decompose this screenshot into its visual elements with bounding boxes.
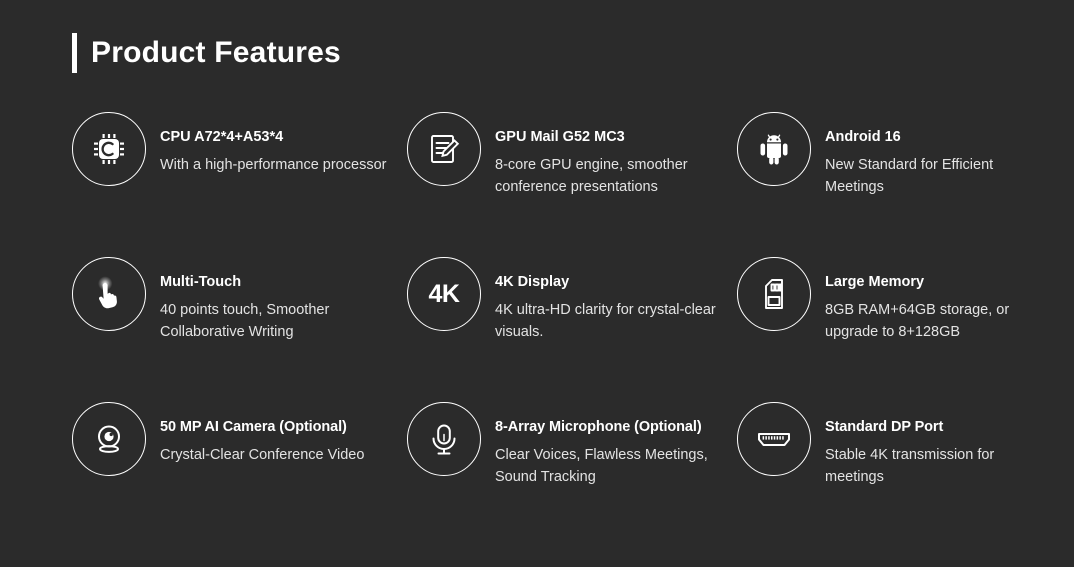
feature-description: 8-core GPU engine, smoother conference p… bbox=[495, 154, 737, 198]
feature-text: Large Memory 8GB RAM+64GB storage, or up… bbox=[825, 253, 1032, 343]
feature-description: New Standard for Efficient Meetings bbox=[825, 154, 1032, 198]
4k-text-icon: 4K bbox=[407, 257, 481, 331]
feature-item-multi-touch: Multi-Touch 40 points touch, Smoother Co… bbox=[72, 253, 407, 398]
feature-description: Crystal-Clear Conference Video bbox=[160, 444, 364, 466]
dp-port-icon bbox=[737, 402, 811, 476]
feature-title: Android 16 bbox=[825, 128, 1032, 146]
feature-description: Clear Voices, Flawless Meetings, Sound T… bbox=[495, 444, 737, 488]
feature-item-ai-camera: 50 MP AI Camera (Optional) Crystal-Clear… bbox=[72, 398, 407, 543]
feature-title: Standard DP Port bbox=[825, 418, 1032, 436]
feature-title: CPU A72*4+A53*4 bbox=[160, 128, 386, 146]
feature-description: Stable 4K transmission for meetings bbox=[825, 444, 1032, 488]
feature-item-dp-port: Standard DP Port Stable 4K transmission … bbox=[737, 398, 1032, 543]
feature-text: Android 16 New Standard for Efficient Me… bbox=[825, 108, 1032, 198]
feature-description: 40 points touch, Smoother Collaborative … bbox=[160, 299, 407, 343]
page-title-text: Product Features bbox=[91, 33, 341, 73]
feature-title: GPU Mail G52 MC3 bbox=[495, 128, 737, 146]
feature-text: Multi-Touch 40 points touch, Smoother Co… bbox=[160, 253, 407, 343]
touch-hand-icon bbox=[72, 257, 146, 331]
feature-item-android: Android 16 New Standard for Efficient Me… bbox=[737, 108, 1032, 253]
feature-item-cpu: CPU A72*4+A53*4 With a high-performance … bbox=[72, 108, 407, 253]
title-accent-bar bbox=[72, 33, 77, 73]
feature-text: 50 MP AI Camera (Optional) Crystal-Clear… bbox=[160, 398, 364, 466]
webcam-icon bbox=[72, 402, 146, 476]
feature-title: Large Memory bbox=[825, 273, 1032, 291]
feature-title: 4K Display bbox=[495, 273, 737, 291]
feature-text: Standard DP Port Stable 4K transmission … bbox=[825, 398, 1032, 488]
feature-item-microphone: 8-Array Microphone (Optional) Clear Voic… bbox=[407, 398, 737, 543]
feature-title: Multi-Touch bbox=[160, 273, 407, 291]
document-pencil-icon bbox=[407, 112, 481, 186]
android-robot-icon bbox=[737, 112, 811, 186]
feature-description: 4K ultra-HD clarity for crystal-clear vi… bbox=[495, 299, 737, 343]
feature-text: 4K Display 4K ultra-HD clarity for cryst… bbox=[495, 253, 737, 343]
feature-title: 50 MP AI Camera (Optional) bbox=[160, 418, 364, 436]
4k-icon-label: 4K bbox=[429, 282, 460, 307]
feature-title: 8-Array Microphone (Optional) bbox=[495, 418, 737, 436]
feature-description: With a high-performance processor bbox=[160, 154, 386, 176]
product-features-page: Product Features bbox=[0, 0, 1074, 567]
features-grid: CPU A72*4+A53*4 With a high-performance … bbox=[72, 108, 1032, 543]
feature-description: 8GB RAM+64GB storage, or upgrade to 8+12… bbox=[825, 299, 1032, 343]
feature-text: CPU A72*4+A53*4 With a high-performance … bbox=[160, 108, 386, 176]
page-title: Product Features bbox=[72, 30, 341, 76]
microphone-icon bbox=[407, 402, 481, 476]
memory-card-icon bbox=[737, 257, 811, 331]
cpu-chip-icon bbox=[72, 112, 146, 186]
feature-text: 8-Array Microphone (Optional) Clear Voic… bbox=[495, 398, 737, 488]
feature-text: GPU Mail G52 MC3 8-core GPU engine, smoo… bbox=[495, 108, 737, 198]
feature-item-4k-display: 4K 4K Display 4K ultra-HD clarity for cr… bbox=[407, 253, 737, 398]
feature-item-gpu: GPU Mail G52 MC3 8-core GPU engine, smoo… bbox=[407, 108, 737, 253]
feature-item-large-memory: Large Memory 8GB RAM+64GB storage, or up… bbox=[737, 253, 1032, 398]
